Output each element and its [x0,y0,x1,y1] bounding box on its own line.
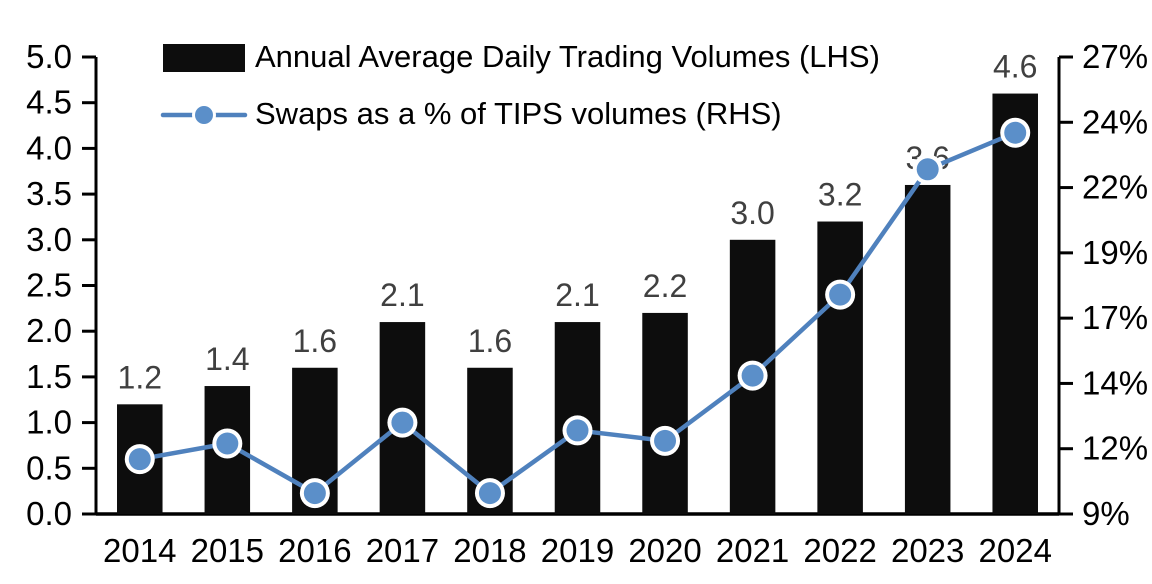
bar [642,313,688,514]
left-axis-tick-label: 2.0 [26,312,72,349]
bar [905,185,951,514]
category-axis-label: 2014 [103,532,176,569]
line-marker [216,432,238,454]
bar-data-label: 4.6 [993,49,1037,85]
bar-data-label: 3.0 [730,195,774,231]
right-axis-tick-label: 14% [1082,364,1148,401]
bar-data-label: 1.6 [468,323,512,359]
right-axis-tick-label: 19% [1082,234,1148,271]
left-axis-tick-label: 0.0 [26,495,72,532]
line-marker [654,430,676,452]
right-axis-ticks: 9%12%14%17%19%22%24%27% [1059,38,1148,532]
right-axis-tick-label: 9% [1082,495,1130,532]
left-axis-tick-label: 3.5 [26,175,72,212]
chart-legend: Annual Average Daily Trading Volumes (LH… [163,39,880,131]
line-marker [1004,122,1026,144]
line-marker [742,365,764,387]
left-axis-tick-label: 3.0 [26,221,72,258]
line-marker [829,284,851,306]
line-marker [129,448,151,470]
bar-data-label: 2.1 [555,277,599,313]
bar-data-label: 2.1 [380,277,424,313]
legend-bar-swatch-icon [163,44,245,72]
category-axis-label: 2019 [541,532,614,569]
category-axis-label: 2024 [979,532,1052,569]
bar-data-label: 1.4 [205,341,249,377]
category-axis-label: 2023 [891,532,964,569]
category-axis-label: 2022 [803,532,876,569]
line-marker [304,482,326,504]
bar-data-label: 3.2 [818,177,862,213]
chart-canvas: 0.00.51.01.52.02.53.03.54.04.55.0 9%12%1… [0,0,1152,584]
line-marker [391,412,413,434]
category-axis-label: 2021 [716,532,789,569]
left-axis-tick-label: 1.0 [26,404,72,441]
category-axis-label: 2020 [628,532,701,569]
category-axis-label: 2017 [366,532,439,569]
left-axis-tick-label: 0.5 [26,449,72,486]
left-axis-tick-label: 5.0 [26,38,72,75]
bar [817,222,863,514]
legend-marker-icon [195,106,213,124]
left-axis-tick-label: 4.0 [26,129,72,166]
legend-label-line: Swaps as a % of TIPS volumes (RHS) [255,96,782,131]
right-axis-tick-label: 12% [1082,430,1148,467]
category-axis-label: 2018 [453,532,526,569]
legend-label-bars: Annual Average Daily Trading Volumes (LH… [255,39,880,74]
left-axis-ticks: 0.00.51.01.52.02.53.03.54.04.55.0 [26,38,96,532]
right-axis-tick-label: 27% [1082,38,1148,75]
line-marker [917,158,939,180]
bar [992,94,1038,514]
right-axis-tick-label: 22% [1082,169,1148,206]
line-marker [567,419,589,441]
bar-data-label: 1.6 [293,323,337,359]
left-axis-tick-label: 2.5 [26,267,72,304]
line-marker [479,482,501,504]
left-axis-tick-label: 4.5 [26,84,72,121]
right-axis-tick-label: 17% [1082,299,1148,336]
right-axis-tick-label: 24% [1082,103,1148,140]
bar-data-label: 2.2 [643,268,687,304]
category-axis-label: 2015 [191,532,264,569]
bar-data-label: 1.2 [118,359,162,395]
category-axis-label: 2016 [278,532,351,569]
category-axis-labels: 2014201520162017201820192020202120222023… [103,532,1052,569]
chart-container: 0.00.51.01.52.02.53.03.54.04.55.0 9%12%1… [0,0,1152,584]
left-axis-tick-label: 1.5 [26,358,72,395]
